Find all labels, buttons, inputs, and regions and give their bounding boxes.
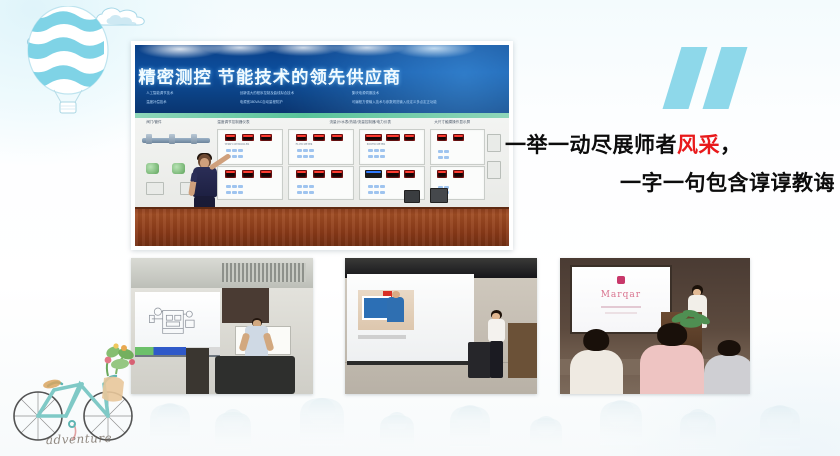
tablet-device (404, 190, 420, 203)
counter-desk (135, 207, 509, 246)
quote-mark-icon (668, 47, 748, 109)
quote-text: 一举一动尽展师者风采， 一字一句包含谆谆教诲 (505, 126, 835, 202)
quote-line1-accent: 风采 (677, 132, 720, 157)
cloud-icon (92, 4, 150, 30)
slide-photo (358, 290, 414, 330)
main-photo: 精密测控 节能技术的领先供应商 人工智能调节技术 温度补偿技术 创新强大的程序控… (131, 41, 513, 250)
instrument-panel (288, 166, 354, 200)
diagram-graphic (143, 302, 211, 338)
flange-graphic (191, 134, 197, 144)
valve-graphic (146, 163, 159, 174)
banner-bullet: 温度补偿技术 (146, 99, 166, 104)
banner-title: 精密测控 节能技术的领先供应商 (139, 63, 505, 88)
wall-label: 温度调节控制器仪表 (217, 120, 249, 125)
hot-air-balloon-icon (14, 6, 134, 116)
wall-label: 大尺寸触摸操作显示屏 (434, 120, 470, 125)
pipe-graphic (142, 138, 209, 143)
instrument-wall: 阀门/管件 温度调节控制器仪表 流量计/水表/热能/流量控制器/电力仪表 大尺寸… (135, 118, 509, 206)
meter-graphic (146, 182, 164, 195)
banner-bullet: 创新强大的程序控制及曲线拟合技术 (240, 90, 294, 95)
banner-bullet: 电源宽380VAC自动量程防护 (240, 99, 283, 104)
main-photo-image: 精密测控 节能技术的领先供应商 人工智能调节技术 温度补偿技术 创新强大的程序控… (135, 45, 509, 246)
slide-title: Marqar (591, 290, 650, 300)
banner-backdrop: 精密测控 节能技术的领先供应商 人工智能调节技术 温度补偿技术 创新强大的程序控… (135, 45, 509, 113)
cloud-icon (24, 28, 76, 52)
instrument-panel: POWER METER (359, 129, 425, 165)
quote-line1-suffix: ， (720, 132, 742, 157)
tablet-device (430, 188, 448, 203)
quote-line-1: 一举一动尽展师者风采， (505, 126, 835, 164)
quote-line1-prefix: 一举一动尽展师者 (505, 132, 677, 157)
flange-graphic (146, 134, 152, 144)
instrument-panel: FLOW METER (288, 129, 354, 165)
banner-bullet: 集块电源伺服技术 (352, 90, 379, 95)
wall-label: 流量计/水表/热能/流量控制器/电力仪表 (329, 120, 391, 125)
wall-label: 阀门/管件 (146, 120, 161, 125)
instrument-panel (430, 129, 484, 165)
flange-graphic (169, 134, 175, 144)
banner-bullet: 可编程方便输入技术与参数规范输入设定义多点定正功能 (352, 99, 437, 104)
projector-screen (347, 274, 474, 365)
slide-canvas: 精密测控 节能技术的领先供应商 人工智能调节技术 温度补偿技术 创新强大的程序控… (0, 0, 840, 456)
presenter-figure (483, 310, 510, 378)
meter-graphic (487, 134, 501, 152)
meter-graphic (487, 161, 501, 179)
presenter-figure (184, 154, 230, 207)
quote-line-2: 一字一句包含谆谆教诲 (505, 164, 835, 202)
banner-bullet: 人工智能调节技术 (146, 90, 173, 95)
